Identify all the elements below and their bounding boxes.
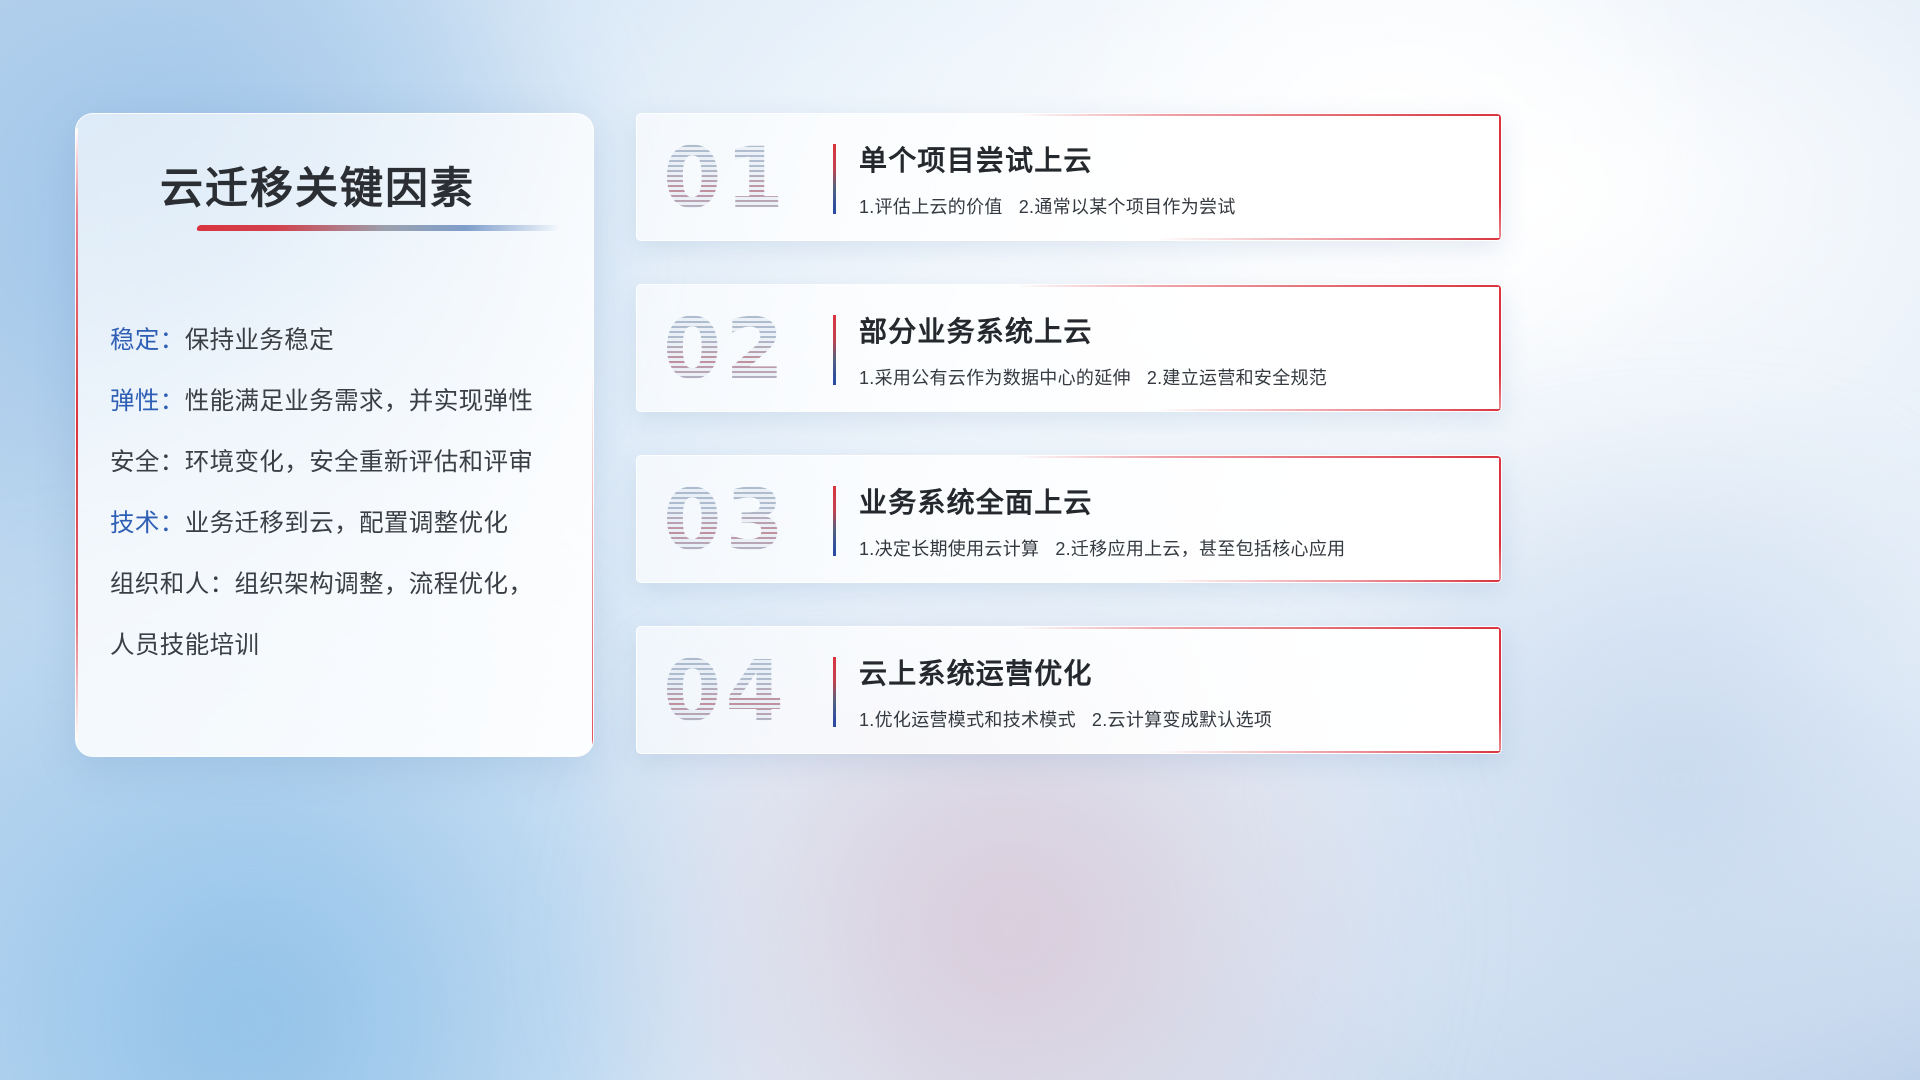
stage-description: 1.采用公有云作为数据中心的延伸2.建立运营和安全规范 — [859, 364, 1327, 390]
migration-stages-list: 01 01 01 单个项目尝试上云 1.评估上云的价值2.通常以某个项目作为尝试… — [636, 113, 1502, 797]
card-top-accent-line — [1017, 285, 1501, 287]
list-item-key: 弹性： — [110, 388, 185, 415]
list-item: 稳定：保持业务稳定 — [110, 310, 575, 371]
stage-card[interactable]: 03 03 03 业务系统全面上云 1.决定长期使用云计算2.迁移应用上云，甚至… — [636, 455, 1502, 583]
list-item-key: 技术： — [110, 510, 185, 537]
list-item: 弹性：性能满足业务需求，并实现弹性 — [110, 371, 575, 432]
stage-description-part-1: 1.决定长期使用云计算 — [859, 539, 1039, 559]
list-item: 技术：业务迁移到云，配置调整优化 — [110, 493, 575, 554]
list-item: 组织和人：组织架构调整，流程优化， — [110, 554, 575, 615]
stage-description-part-1: 1.采用公有云作为数据中心的延伸 — [859, 368, 1131, 388]
stage-description: 1.评估上云的价值2.通常以某个项目作为尝试 — [859, 193, 1236, 219]
stage-description-part-2: 2.建立运营和安全规范 — [1147, 368, 1327, 388]
stage-description-part-2: 2.迁移应用上云，甚至包括核心应用 — [1055, 539, 1345, 559]
list-item-value: 环境变化，安全重新评估和评审 — [185, 449, 534, 476]
title-underline-rule — [196, 225, 561, 231]
card-right-accent-line — [1499, 627, 1501, 753]
stage-card[interactable]: 02 02 02 部分业务系统上云 1.采用公有云作为数据中心的延伸2.建立运营… — [636, 284, 1502, 412]
card-divider-bar — [833, 315, 836, 385]
key-factors-list: 稳定：保持业务稳定 弹性：性能满足业务需求，并实现弹性 安全：环境变化，安全重新… — [110, 310, 575, 676]
page-title: 云迁移关键因素 — [160, 154, 475, 216]
list-item-key: 稳定： — [110, 327, 185, 354]
card-bottom-accent-line — [1155, 751, 1501, 753]
card-top-accent-line — [1017, 114, 1501, 116]
card-bottom-accent-line — [1155, 238, 1501, 240]
stage-description-part-1: 1.优化运营模式和技术模式 — [859, 710, 1076, 730]
card-right-accent-line — [1499, 456, 1501, 582]
stage-title: 部分业务系统上云 — [859, 310, 1093, 350]
stage-description-part-2: 2.云计算变成默认选项 — [1092, 710, 1272, 730]
list-item-value: 保持业务稳定 — [185, 327, 334, 354]
stage-title: 单个项目尝试上云 — [859, 139, 1093, 179]
stage-description: 1.决定长期使用云计算2.迁移应用上云，甚至包括核心应用 — [859, 535, 1345, 561]
card-right-accent-line — [1499, 114, 1501, 240]
list-item: 安全：环境变化，安全重新评估和评审 — [110, 432, 575, 493]
list-item-continuation: 人员技能培训 — [110, 615, 575, 676]
card-bottom-accent-line — [1155, 409, 1501, 411]
list-item-value: 性能满足业务需求，并实现弹性 — [185, 388, 534, 415]
stage-number-red-tint: 01 — [663, 130, 788, 226]
slide-stage: 云迁移关键因素 稳定：保持业务稳定 弹性：性能满足业务需求，并实现弹性 安全：环… — [0, 0, 1920, 1080]
card-divider-bar — [833, 657, 836, 727]
stage-title: 云上系统运营优化 — [859, 652, 1093, 692]
stage-description-part-2: 2.通常以某个项目作为尝试 — [1019, 197, 1236, 217]
stage-card[interactable]: 01 01 01 单个项目尝试上云 1.评估上云的价值2.通常以某个项目作为尝试 — [636, 113, 1502, 241]
card-bottom-accent-line — [1155, 580, 1501, 582]
stage-description: 1.优化运营模式和技术模式2.云计算变成默认选项 — [859, 706, 1272, 732]
stage-card[interactable]: 04 04 04 云上系统运营优化 1.优化运营模式和技术模式2.云计算变成默认… — [636, 626, 1502, 754]
key-factors-panel: 云迁移关键因素 稳定：保持业务稳定 弹性：性能满足业务需求，并实现弹性 安全：环… — [75, 113, 594, 757]
stage-number-red-tint: 04 — [663, 643, 788, 739]
card-divider-bar — [833, 144, 836, 214]
list-item-key: 组织和人： — [110, 571, 235, 598]
card-top-accent-line — [1017, 456, 1501, 458]
stage-number-red-tint: 02 — [663, 301, 788, 397]
stage-description-part-1: 1.评估上云的价值 — [859, 197, 1003, 217]
list-item-key: 安全： — [110, 449, 185, 476]
card-right-accent-line — [1499, 285, 1501, 411]
card-top-accent-line — [1017, 627, 1501, 629]
list-item-value: 组织架构调整，流程优化， — [235, 571, 534, 598]
stage-number-red-tint: 03 — [663, 472, 788, 568]
list-item-value: 业务迁移到云，配置调整优化 — [185, 510, 509, 537]
stage-title: 业务系统全面上云 — [859, 481, 1093, 521]
card-divider-bar — [833, 486, 836, 556]
